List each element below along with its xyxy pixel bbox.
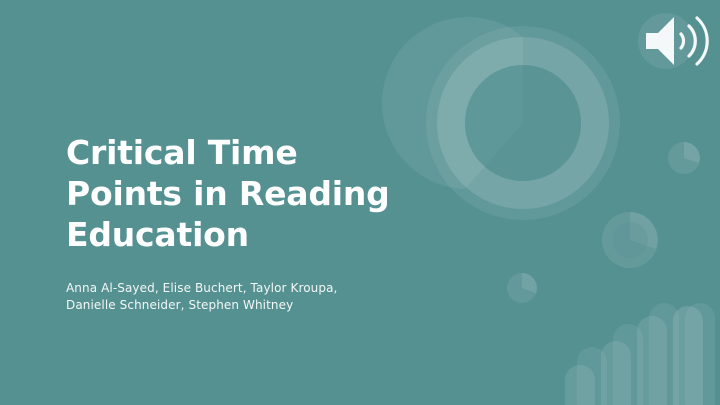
bar-chart-back-bars (577, 303, 715, 405)
small-pie-right-wedge (684, 142, 700, 163)
bar-front-2 (601, 341, 631, 405)
small-pie-right-disc (668, 142, 700, 174)
bar-chart-front-bars (565, 306, 703, 405)
presentation-title-slide: Critical Time Points in Reading Educatio… (0, 0, 720, 405)
small-pie-low-wedge (522, 273, 537, 293)
bar-back-2 (613, 324, 643, 405)
big-donut-halo (426, 26, 620, 220)
title-text-block: Critical Time Points in Reading Educatio… (66, 132, 426, 314)
page-title: Critical Time Points in Reading Educatio… (66, 132, 426, 255)
bar-front-1 (565, 365, 595, 405)
bar-front-3 (637, 316, 667, 405)
big-donut-ring (451, 51, 595, 195)
bar-back-1 (577, 347, 607, 405)
medium-donut-wedge (630, 212, 657, 249)
bar-front-4 (673, 306, 703, 405)
bar-back-3 (649, 303, 679, 405)
speaker-icon[interactable] (634, 8, 716, 76)
big-donut-hole (465, 65, 581, 181)
bar-back-4 (685, 303, 715, 405)
author-list: Anna Al-Sayed, Elise Buchert, Taylor Kro… (66, 255, 426, 314)
medium-donut-hole (612, 222, 648, 258)
small-pie-low-disc (507, 273, 537, 303)
medium-donut-disc (602, 212, 658, 268)
speaker-wave-outer (697, 18, 707, 64)
